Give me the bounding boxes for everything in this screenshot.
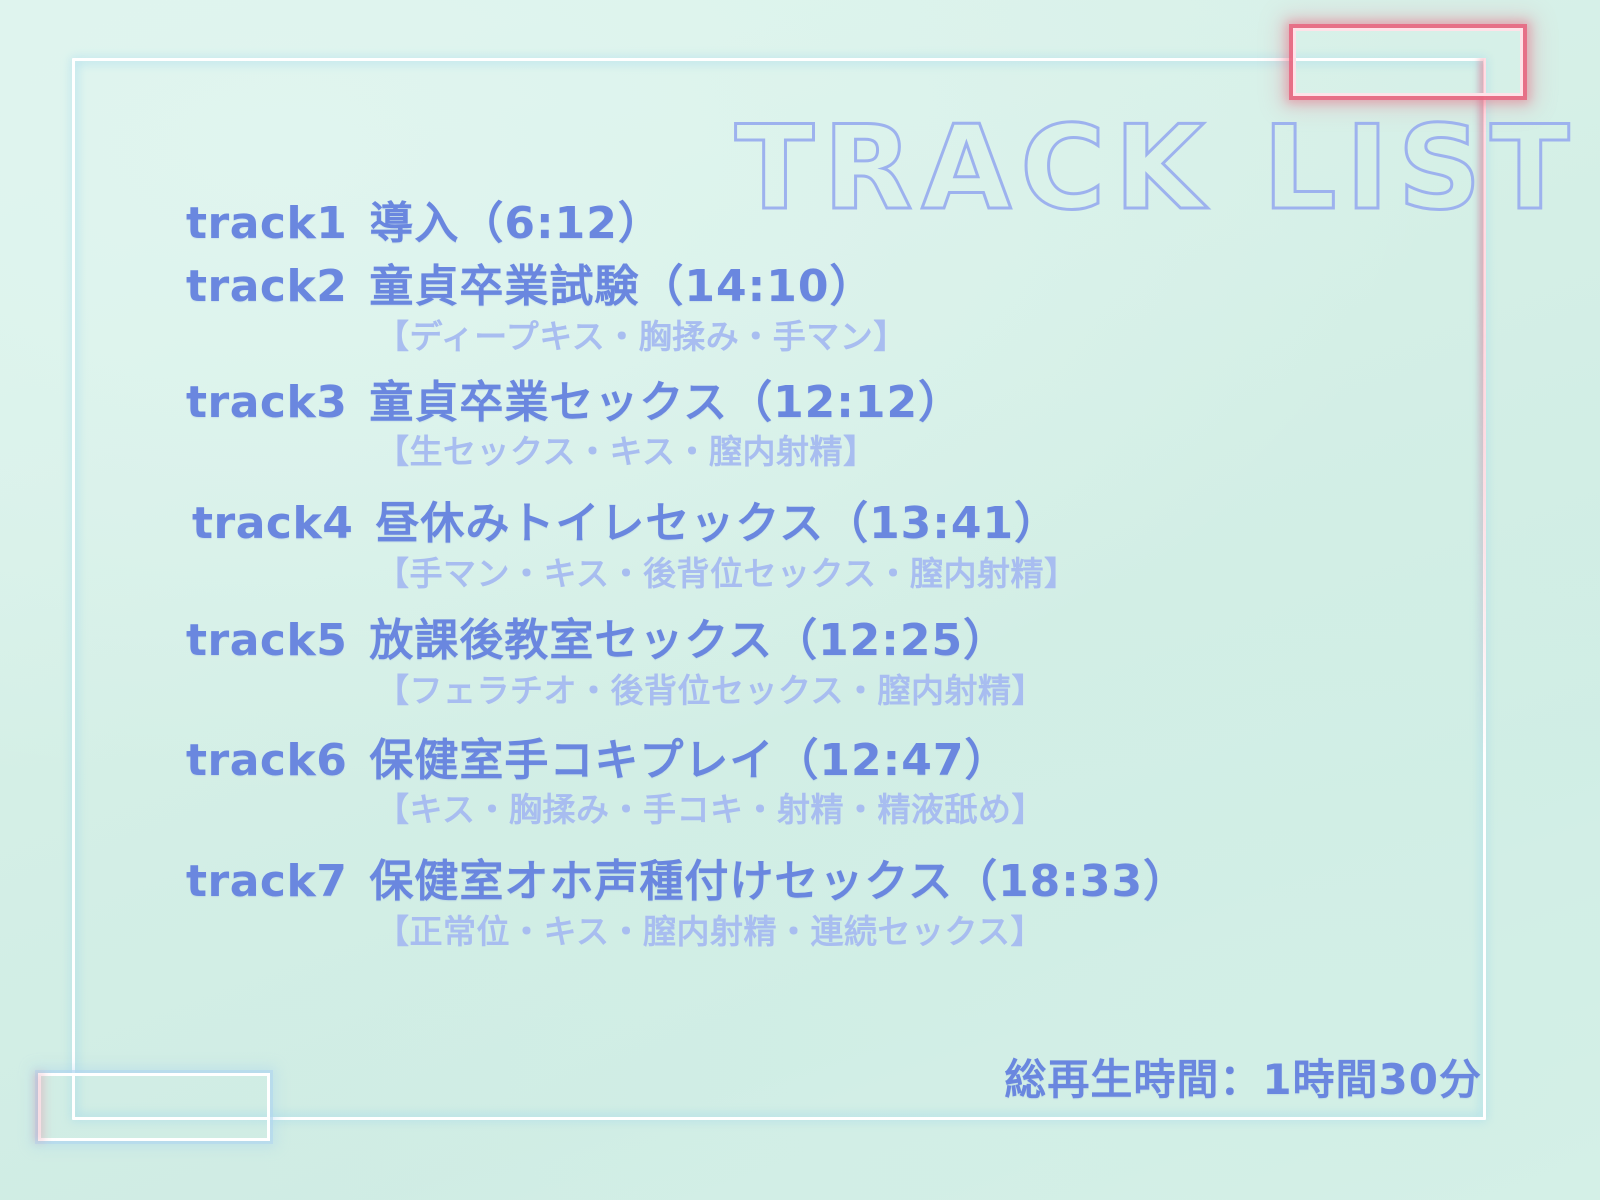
track-item: track5 放課後教室セックス（12:25） 【フェラチオ・後背位セックス・膣… bbox=[186, 613, 1446, 712]
track-subtitle: 【キス・胸揉み・手コキ・射精・精液舐め】 bbox=[186, 789, 1446, 832]
track-number: track1 bbox=[186, 196, 347, 251]
total-playtime: 総再生時間：1時間30分 bbox=[1004, 1046, 1482, 1107]
track-item: track3 童貞卒業セックス（12:12） 【生セックス・キス・膣内射精】 bbox=[186, 375, 1446, 474]
track-item: track1 導入（6:12） bbox=[186, 196, 1446, 251]
track-number: track7 bbox=[186, 854, 347, 909]
track-main-line: track1 導入（6:12） bbox=[186, 196, 1446, 251]
track-title: 保健室手コキプレイ（12:47） bbox=[347, 733, 1009, 788]
track-number: track3 bbox=[186, 375, 347, 430]
track-number: track5 bbox=[186, 613, 347, 668]
track-main-line: track6 保健室手コキプレイ（12:47） bbox=[186, 733, 1446, 788]
track-title: 童貞卒業セックス（12:12） bbox=[347, 375, 963, 430]
track-subtitle: 【生セックス・キス・膣内射精】 bbox=[186, 431, 1446, 474]
track-title: 保健室オホ声種付けセックス（18:33） bbox=[347, 854, 1188, 909]
track-number: track4 bbox=[192, 496, 353, 551]
track-subtitle: 【ディープキス・胸揉み・手マン】 bbox=[186, 316, 1446, 359]
track-title: 放課後教室セックス（12:25） bbox=[347, 613, 1008, 668]
track-list: track1 導入（6:12） track2 童貞卒業試験（14:10） 【ディ… bbox=[186, 196, 1446, 953]
track-title: 昼休みトイレセックス（13:41） bbox=[353, 496, 1059, 551]
track-item: track2 童貞卒業試験（14:10） 【ディープキス・胸揉み・手マン】 bbox=[186, 259, 1446, 358]
accent-rectangle-bottom-left bbox=[38, 1073, 270, 1141]
track-title: 童貞卒業試験（14:10） bbox=[347, 259, 874, 314]
track-list-page: TRACK LIST track1 導入（6:12） track2 童貞卒業試験… bbox=[0, 0, 1600, 1200]
track-subtitle: 【手マン・キス・後背位セックス・膣内射精】 bbox=[186, 553, 1446, 596]
track-main-line: track4 昼休みトイレセックス（13:41） bbox=[186, 496, 1446, 551]
track-main-line: track5 放課後教室セックス（12:25） bbox=[186, 613, 1446, 668]
track-item: track7 保健室オホ声種付けセックス（18:33） 【正常位・キス・膣内射精… bbox=[186, 854, 1446, 953]
track-item: track6 保健室手コキプレイ（12:47） 【キス・胸揉み・手コキ・射精・精… bbox=[186, 733, 1446, 832]
track-subtitle: 【フェラチオ・後背位セックス・膣内射精】 bbox=[186, 670, 1446, 713]
track-main-line: track2 童貞卒業試験（14:10） bbox=[186, 259, 1446, 314]
track-item: track4 昼休みトイレセックス（13:41） 【手マン・キス・後背位セックス… bbox=[186, 496, 1446, 595]
accent-rectangle-top-right bbox=[1293, 28, 1523, 96]
track-number: track2 bbox=[186, 259, 347, 314]
track-main-line: track3 童貞卒業セックス（12:12） bbox=[186, 375, 1446, 430]
track-title: 導入（6:12） bbox=[347, 196, 662, 251]
track-subtitle: 【正常位・キス・膣内射精・連続セックス】 bbox=[186, 911, 1446, 954]
track-number: track6 bbox=[186, 733, 347, 788]
track-main-line: track7 保健室オホ声種付けセックス（18:33） bbox=[186, 854, 1446, 909]
